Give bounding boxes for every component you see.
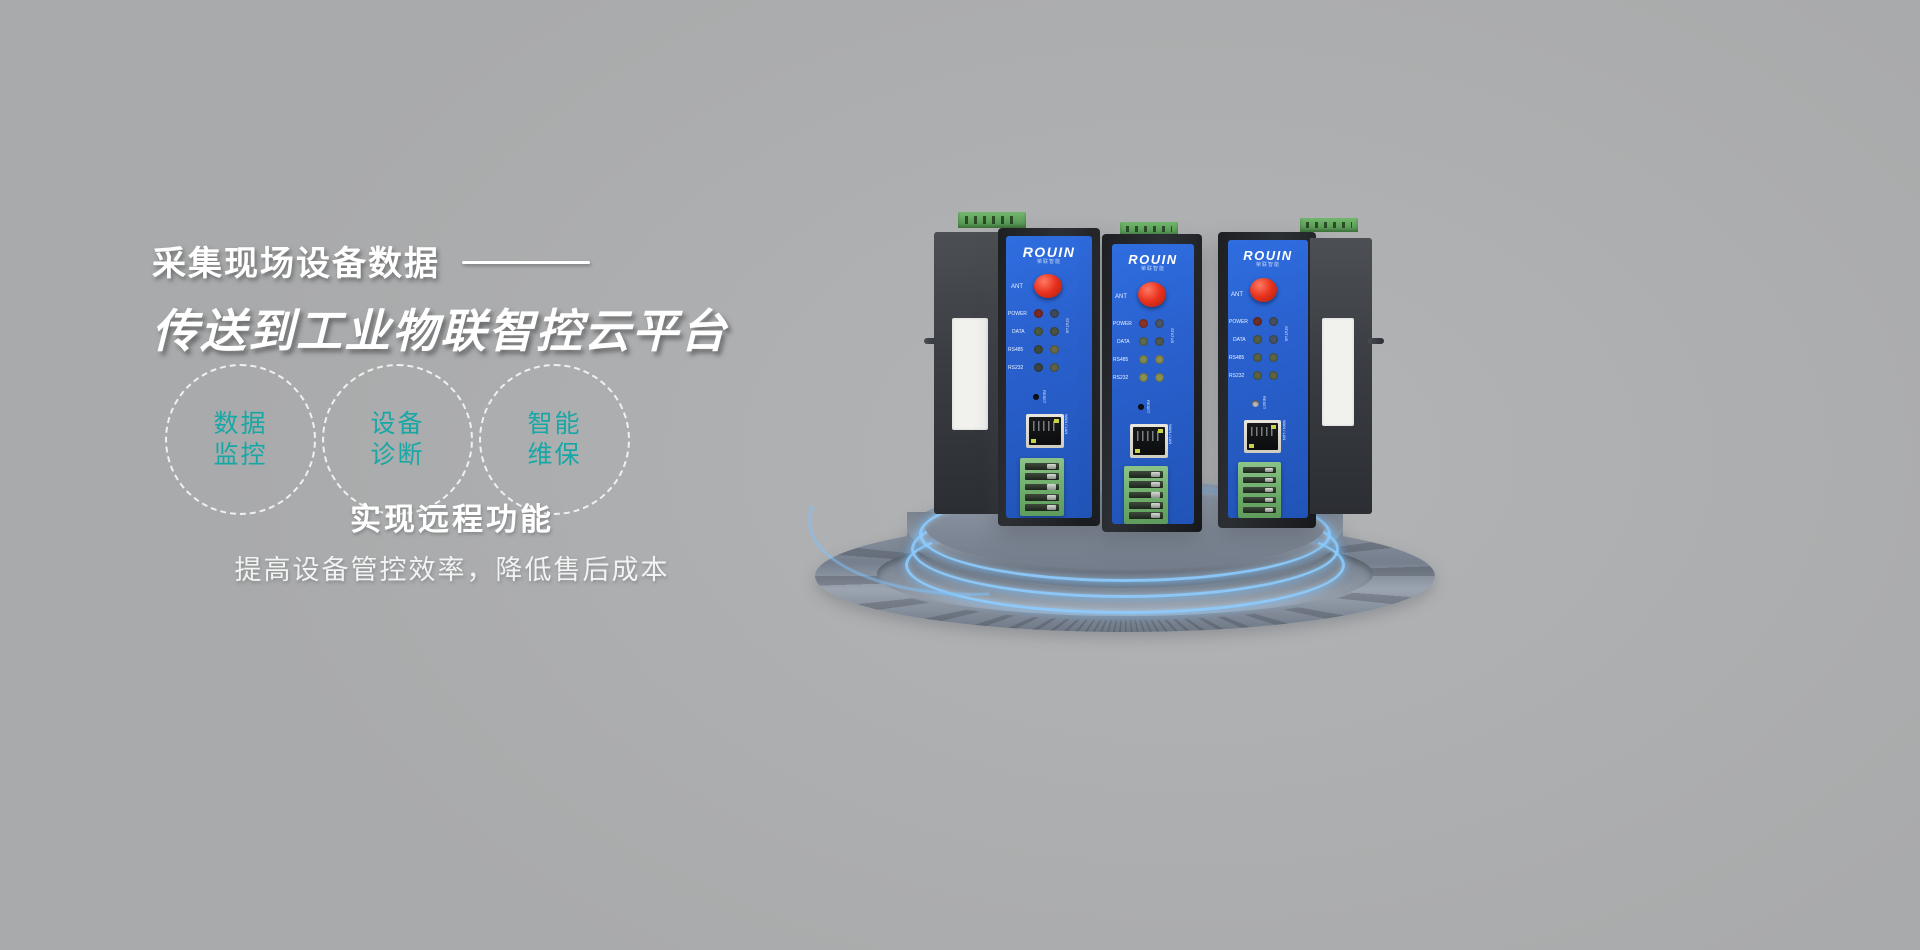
led-aux-4 xyxy=(1050,363,1059,372)
device-front-face: ROUIN 荣联智能 ANT POWER DATA RS485 RS232 ST… xyxy=(1228,240,1308,518)
reset-label: RESET xyxy=(1042,390,1046,403)
eyebrow-text: 采集现场设备数据 xyxy=(152,236,440,285)
terminal-pin xyxy=(1025,463,1059,470)
terminal-screw xyxy=(1047,484,1056,489)
terminal-pin xyxy=(1025,473,1059,480)
top-connector xyxy=(1300,218,1358,232)
wan-lan-label: WAN / LAN xyxy=(1282,420,1286,440)
rj45-cavity xyxy=(1133,427,1165,455)
rs485-label: RS485 xyxy=(1113,358,1128,363)
led-aux-1 xyxy=(1050,309,1059,318)
power-label: POWER xyxy=(1229,320,1248,325)
ant-label: ANT xyxy=(1231,292,1243,298)
reset-button[interactable] xyxy=(1252,400,1259,407)
terminal-pin xyxy=(1243,467,1276,474)
rj45-led-right xyxy=(1054,419,1059,423)
antenna-connector[interactable] xyxy=(1250,278,1277,302)
feature-circle-data-monitoring[interactable]: 数据 监控 xyxy=(165,364,316,515)
ant-label: ANT xyxy=(1011,284,1023,290)
eyebrow-row: 采集现场设备数据 xyxy=(152,236,912,285)
brand-logo-sub: 荣联智能 xyxy=(1112,267,1194,272)
led-rs485 xyxy=(1253,353,1262,362)
reset-label: RESET xyxy=(1146,400,1150,413)
signal-strength-label: STATUS xyxy=(1284,326,1288,341)
brand-logo: ROUIN xyxy=(1112,253,1194,266)
data-label: DATA xyxy=(1012,330,1025,335)
rs485-label: RS485 xyxy=(1229,356,1244,361)
led-rs485 xyxy=(1139,355,1148,364)
terminal-screw xyxy=(1265,498,1274,503)
feature-label-line1: 智能 xyxy=(527,409,581,440)
feature-label-line2: 监控 xyxy=(213,440,267,471)
page-title: 传送到工业物联智控云平台 xyxy=(152,295,912,361)
brand-logo: ROUIN xyxy=(1228,249,1308,262)
power-label: POWER xyxy=(1008,312,1027,317)
device-front-face: ROUIN 荣联智能 ANT POWER DATA RS485 RS232 ST… xyxy=(1006,236,1092,518)
rs232-label: RS232 xyxy=(1229,374,1244,379)
feature-circle-smart-maintenance[interactable]: 智能 维保 xyxy=(479,364,630,515)
terminal-pin xyxy=(1129,512,1163,519)
terminal-screw xyxy=(1151,503,1160,508)
terminal-screw xyxy=(1047,464,1056,469)
led-power xyxy=(1034,309,1043,318)
rs232-label: RS232 xyxy=(1113,376,1128,381)
terminal-block[interactable] xyxy=(1238,462,1281,518)
led-power xyxy=(1253,317,1262,326)
rj45-port[interactable] xyxy=(1026,414,1064,448)
hero-banner: 采集现场设备数据 传送到工业物联智控云平台 数据 监控 设备 诊断 智能 维保 … xyxy=(0,0,1920,950)
power-label: POWER xyxy=(1113,322,1132,327)
terminal-pin xyxy=(1129,471,1163,478)
terminal-pin xyxy=(1129,492,1163,499)
feature-label-line2: 维保 xyxy=(527,440,581,471)
terminal-screw xyxy=(1047,474,1056,479)
terminal-pin xyxy=(1243,507,1276,514)
led-rs232 xyxy=(1253,371,1262,380)
subtitle-text: 实现远程功能 xyxy=(152,494,752,539)
terminal-screw xyxy=(1265,488,1274,493)
led-aux-1 xyxy=(1269,317,1278,326)
data-label: DATA xyxy=(1117,340,1130,345)
terminal-screw xyxy=(1265,508,1274,513)
feature-circle-group: 数据 监控 设备 诊断 智能 维保 xyxy=(165,364,630,515)
terminal-pin xyxy=(1025,484,1059,491)
led-data xyxy=(1139,337,1148,346)
brand-logo-sub: 荣联智能 xyxy=(1228,263,1308,268)
terminal-pin xyxy=(1129,481,1163,488)
data-label: DATA xyxy=(1233,338,1246,343)
ant-label: ANT xyxy=(1115,294,1127,300)
antenna-connector[interactable] xyxy=(1034,274,1062,298)
terminal-screw xyxy=(1151,513,1160,518)
rj45-led-left xyxy=(1249,444,1254,448)
rj45-led-left xyxy=(1135,449,1140,453)
hero-copy-block: 采集现场设备数据 传送到工业物联智控云平台 xyxy=(152,236,912,361)
terminal-screw xyxy=(1151,472,1160,477)
signal-strength-label: STATUS xyxy=(1170,328,1174,343)
device-unit-2[interactable]: ROUIN 荣联智能 ANT POWER DATA RS485 RS232 ST… xyxy=(1102,234,1212,534)
rj45-led-right xyxy=(1271,425,1276,429)
tagline-text: 提高设备管控效率，降低售后成本 xyxy=(152,548,752,587)
terminal-pin xyxy=(1243,497,1276,504)
brand-logo: ROUIN xyxy=(1006,245,1092,259)
signal-strength-label: STATUS xyxy=(1065,318,1069,333)
feature-label-line1: 数据 xyxy=(213,409,267,440)
terminal-screw xyxy=(1265,478,1274,483)
led-aux-3 xyxy=(1269,353,1278,362)
device-spec-label xyxy=(952,318,988,430)
terminal-pin xyxy=(1025,494,1059,501)
terminal-block[interactable] xyxy=(1020,458,1064,516)
device-unit-1[interactable]: ROUIN 荣联智能 ANT POWER DATA RS485 RS232 ST… xyxy=(930,226,1130,526)
terminal-screw xyxy=(1265,468,1274,473)
led-aux-4 xyxy=(1269,371,1278,380)
product-scene: ROUIN 荣联智能 ANT POWER DATA RS485 RS232 ST… xyxy=(820,190,1520,660)
led-aux-2 xyxy=(1155,337,1164,346)
antenna-stub-icon xyxy=(1368,338,1384,344)
rj45-led-right xyxy=(1158,429,1163,433)
led-data xyxy=(1034,327,1043,336)
led-aux-3 xyxy=(1155,355,1164,364)
led-power xyxy=(1139,319,1148,328)
reset-button[interactable] xyxy=(1033,394,1039,400)
feature-circle-device-diagnosis[interactable]: 设备 诊断 xyxy=(322,364,473,515)
led-rs232 xyxy=(1139,373,1148,382)
terminal-block[interactable] xyxy=(1124,466,1168,524)
reset-button[interactable] xyxy=(1138,404,1144,410)
eyebrow-divider xyxy=(462,261,590,264)
led-aux-2 xyxy=(1269,335,1278,344)
rj45-led-left xyxy=(1031,439,1036,443)
device-front-face: ROUIN 荣联智能 ANT POWER DATA RS485 RS232 ST… xyxy=(1112,244,1194,524)
device-spec-label xyxy=(1322,318,1354,426)
rs232-label: RS232 xyxy=(1008,366,1023,371)
brand-logo-sub: 荣联智能 xyxy=(1006,260,1092,265)
led-rs232 xyxy=(1034,363,1043,372)
feature-label-line2: 诊断 xyxy=(370,440,424,471)
rj45-cavity xyxy=(1029,417,1061,445)
rj45-port[interactable] xyxy=(1244,420,1281,453)
device-unit-3[interactable]: ROUIN 荣联智能 ANT POWER DATA RS485 RS232 ST… xyxy=(1218,230,1418,530)
terminal-screw xyxy=(1151,492,1160,497)
led-aux-3 xyxy=(1050,345,1059,354)
terminal-screw xyxy=(1151,482,1160,487)
antenna-connector[interactable] xyxy=(1138,282,1166,307)
wan-lan-label: WAN / LAN xyxy=(1168,424,1172,444)
led-data xyxy=(1253,335,1262,344)
top-connector xyxy=(958,212,1026,228)
wan-lan-label: WAN / LAN xyxy=(1064,414,1068,434)
rj45-port[interactable] xyxy=(1130,424,1168,458)
feature-label-line1: 设备 xyxy=(370,409,424,440)
led-aux-4 xyxy=(1155,373,1164,382)
terminal-pin xyxy=(1243,477,1276,484)
terminal-screw xyxy=(1047,495,1056,500)
led-aux-2 xyxy=(1050,327,1059,336)
led-aux-1 xyxy=(1155,319,1164,328)
rs485-label: RS485 xyxy=(1008,348,1023,353)
terminal-pin xyxy=(1025,504,1059,511)
terminal-pin xyxy=(1243,487,1276,494)
terminal-pin xyxy=(1129,502,1163,509)
reset-label: RESET xyxy=(1262,396,1266,409)
rj45-cavity xyxy=(1247,423,1278,450)
terminal-screw xyxy=(1047,505,1056,510)
led-rs485 xyxy=(1034,345,1043,354)
